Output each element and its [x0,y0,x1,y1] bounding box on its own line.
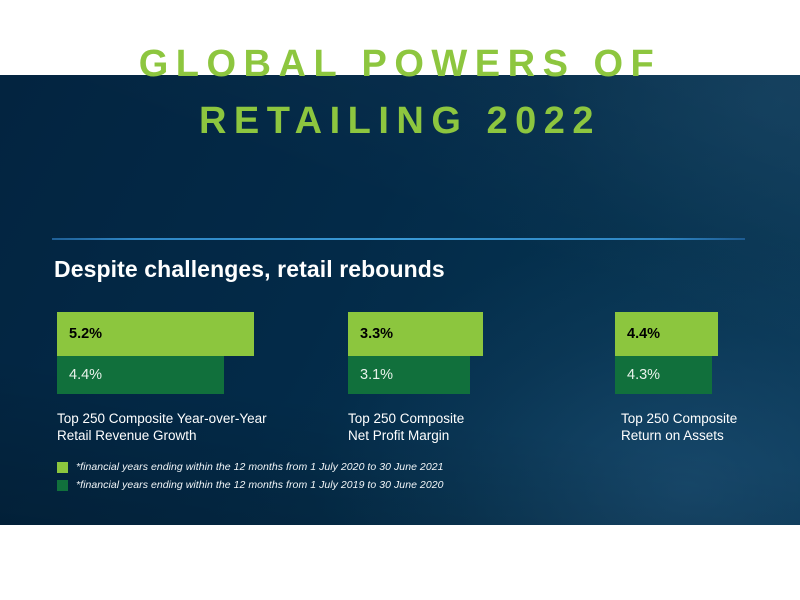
bar-current-net-profit-margin: 3.3% [348,312,483,356]
bar-previous-net-profit-margin: 3.1% [348,356,470,394]
bar-group-net-profit-margin: 3.3% 3.1% Top 250 Composite Net Profit M… [348,312,548,444]
infographic-canvas: GLOBAL POWERS OF RETAILING 2022 Despite … [0,0,800,600]
legend: *financial years ending within the 12 mo… [57,458,444,494]
bar-value-previous: 3.1% [348,367,393,383]
bar-current-return-on-assets: 4.4% [615,312,718,356]
legend-label: *financial years ending within the 12 mo… [76,479,444,491]
bar-previous-revenue-growth: 4.4% [57,356,224,394]
legend-item-previous: *financial years ending within the 12 mo… [57,476,444,494]
bar-value-current: 4.4% [615,326,660,342]
bar-group-label: Top 250 Composite Year-over-Year Retail … [57,411,317,444]
bar-group-revenue-growth: 5.2% 4.4% Top 250 Composite Year-over-Ye… [57,312,317,444]
bar-previous-return-on-assets: 4.3% [615,356,712,394]
legend-label: *financial years ending within the 12 mo… [76,461,444,473]
legend-swatch-icon [57,462,68,473]
bar-group-label: Top 250 Composite Return on Assets [621,411,795,444]
bar-value-current: 5.2% [57,326,102,342]
bar-group-return-on-assets: 4.4% 4.3% Top 250 Composite Return on As… [615,312,795,444]
legend-swatch-icon [57,480,68,491]
bar-value-current: 3.3% [348,326,393,342]
legend-item-current: *financial years ending within the 12 mo… [57,458,444,476]
bar-chart: 5.2% 4.4% Top 250 Composite Year-over-Ye… [0,0,800,600]
bar-value-previous: 4.3% [615,367,660,383]
bar-current-revenue-growth: 5.2% [57,312,254,356]
bar-value-previous: 4.4% [57,367,102,383]
bar-group-label: Top 250 Composite Net Profit Margin [348,411,548,444]
